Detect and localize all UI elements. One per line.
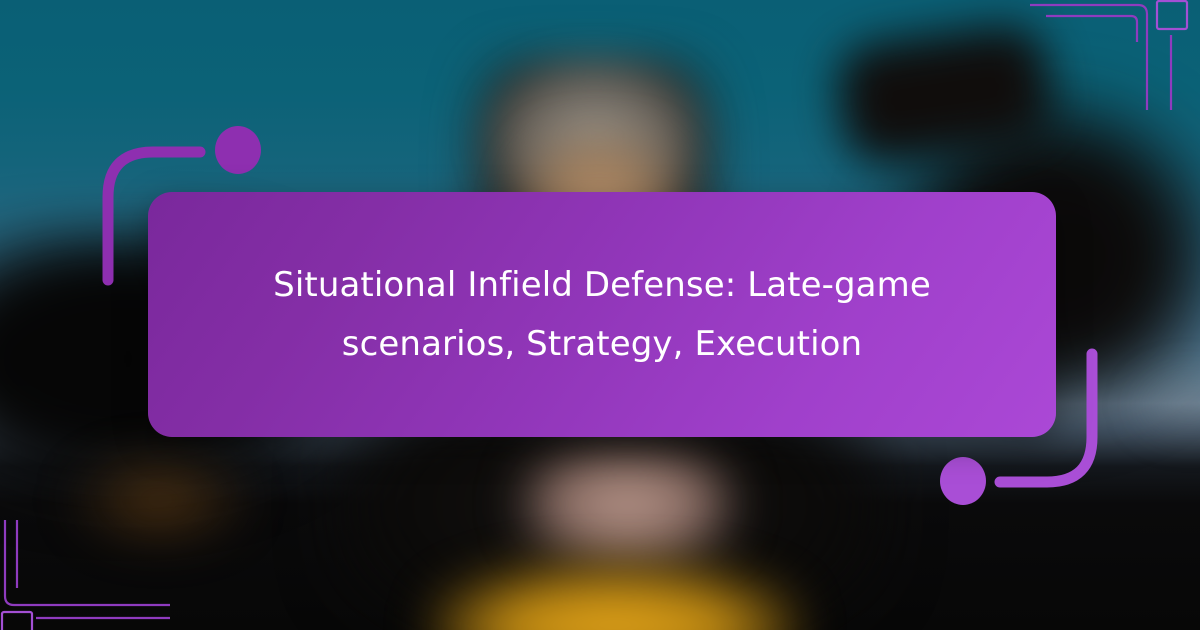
background-highlight (1130, 370, 1200, 440)
share-card-canvas: Situational Infield Defense: Late-game s… (0, 0, 1200, 630)
card-title: Situational Infield Defense: Late-game s… (252, 256, 952, 373)
background-warm-glow (70, 455, 250, 545)
background-person-lower-face (520, 452, 735, 567)
background-gold-garment (430, 562, 800, 630)
title-card: Situational Infield Defense: Late-game s… (148, 192, 1056, 437)
